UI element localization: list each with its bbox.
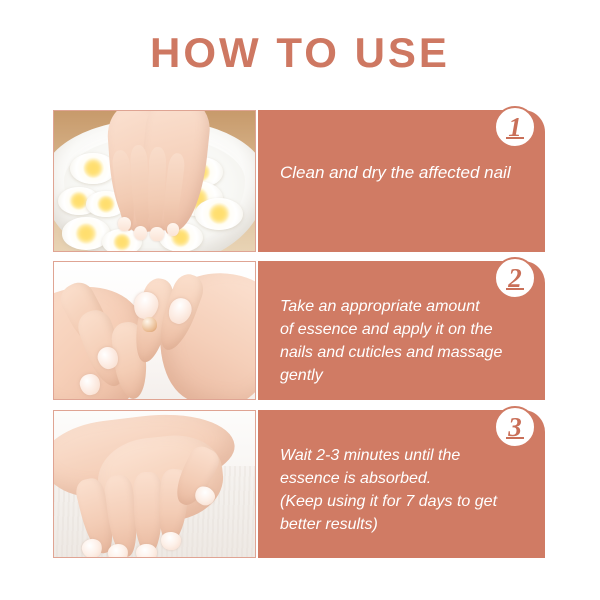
step-1-instruction: Clean and dry the affected nail	[280, 160, 529, 186]
step-3-number: 3	[508, 408, 522, 446]
page-title: HOW TO USE	[0, 28, 600, 78]
essence-drop-shape	[142, 317, 156, 332]
fingernail-shape	[136, 544, 156, 557]
step-3-number-badge: 3	[494, 406, 536, 448]
hands-in-bowl-photo	[54, 111, 255, 251]
step-2-number-badge: 2	[494, 257, 536, 299]
flower-icon	[195, 198, 243, 230]
step-1-number-badge: 1	[494, 106, 536, 148]
step-2-instruction: Take an appropriate amount of essence an…	[280, 295, 529, 387]
step-2-number: 2	[508, 259, 522, 297]
step-3-photo-frame	[53, 410, 256, 558]
step-1-number: 1	[508, 108, 522, 146]
infographic-page: HOW TO USE	[0, 0, 600, 600]
step-1-photo-frame	[53, 110, 256, 252]
applying-essence-photo	[54, 262, 255, 399]
fingernail-shape	[150, 227, 163, 241]
step-3-instruction: Wait 2-3 minutes until the essence is ab…	[280, 444, 529, 536]
hands-on-towel-photo	[54, 411, 255, 557]
fingernail-shape	[167, 223, 179, 236]
step-2-photo-frame	[53, 261, 256, 400]
